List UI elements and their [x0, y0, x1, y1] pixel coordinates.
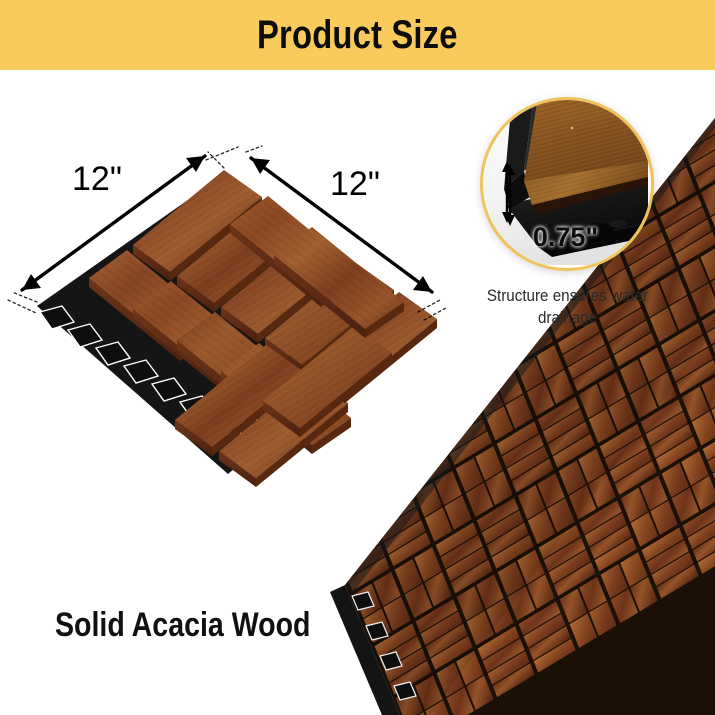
material-label: Solid Acacia Wood	[55, 606, 311, 645]
tile-quadrant-right	[232, 195, 416, 406]
tile-quadrant-bottom	[175, 264, 393, 487]
dimension-label-left: 12"	[72, 160, 122, 199]
tile-quadrant-upper-right	[230, 196, 404, 338]
drainage-caption: Structure ensures water drainage	[469, 286, 667, 330]
page-title: Product Size	[257, 13, 458, 58]
tile-plastic-base	[37, 176, 420, 474]
thickness-label: 0.75"	[498, 222, 633, 253]
drainage-caption-line2: drainage	[469, 308, 667, 330]
product-size-infographic: Product Size	[0, 0, 715, 715]
tile-quadrant-right-slats	[263, 292, 437, 437]
thickness-arrow-overlay	[498, 160, 516, 224]
tile-quadrant-left	[89, 250, 351, 454]
drainage-caption-line1: Structure ensures water	[469, 286, 667, 308]
dimension-label-right: 12"	[330, 165, 380, 204]
header-banner: Product Size	[0, 0, 715, 70]
